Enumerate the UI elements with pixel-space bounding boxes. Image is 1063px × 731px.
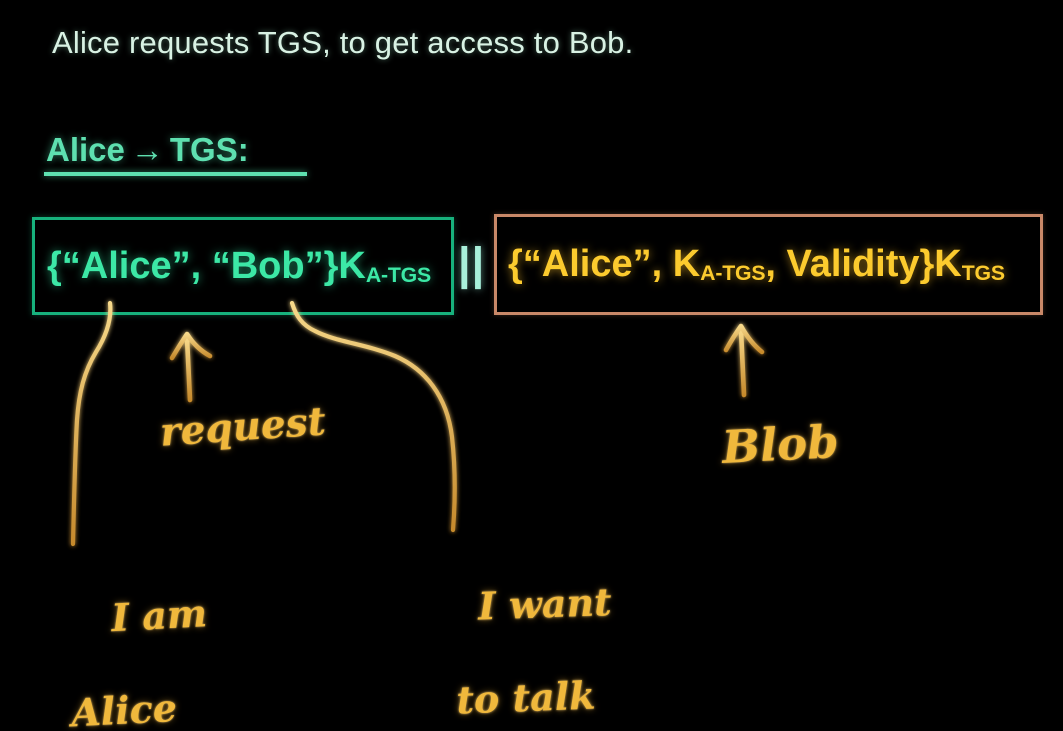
ticket-close-brace: } bbox=[920, 243, 935, 285]
authenticator-key-subscript: A-TGS bbox=[366, 263, 431, 287]
section-heading: Alice→TGS: bbox=[46, 131, 249, 169]
ticket-box: {“Alice”, KA-TGS, Validity}KTGS bbox=[494, 214, 1043, 315]
heading-to-label: TGS: bbox=[170, 131, 249, 168]
page-title: Alice requests TGS, to get access to Bob… bbox=[52, 25, 633, 61]
ticket-formula-head: {“Alice”, K bbox=[508, 243, 700, 285]
heading-underline bbox=[44, 172, 307, 176]
ticket-inner-key-subscript: A-TGS bbox=[700, 261, 765, 285]
authenticator-box: {“Alice”, “Bob”}KA-TGS bbox=[32, 217, 454, 315]
annotation-blob: Blob bbox=[721, 415, 840, 476]
request-arrow-head bbox=[172, 334, 210, 358]
ticket-formula: {“Alice”, KA-TGS, Validity}KTGS bbox=[508, 243, 1005, 286]
leader-line-alice bbox=[73, 303, 110, 544]
annotation-i-am-alice: I am Alice bbox=[55, 544, 218, 731]
annotation-i-want-to-talk-to-bob: I want to talk to Bob bbox=[423, 533, 634, 731]
annotation-i-want-line1: I want bbox=[477, 579, 612, 629]
annotation-i-am-alice-line1: I am bbox=[110, 591, 208, 641]
authenticator-formula-main: {“Alice”, “Bob”}K bbox=[47, 245, 366, 287]
heading-from-label: Alice bbox=[46, 131, 125, 168]
annotation-request: request bbox=[159, 398, 328, 457]
blob-arrow-shaft bbox=[741, 330, 744, 395]
authenticator-formula: {“Alice”, “Bob”}KA-TGS bbox=[47, 245, 431, 288]
blob-arrow-head bbox=[726, 326, 762, 352]
slide-canvas: Alice requests TGS, to get access to Bob… bbox=[0, 0, 1063, 731]
request-arrow-shaft bbox=[187, 338, 190, 400]
right-arrow-icon: → bbox=[125, 131, 170, 168]
concatenation-separator: || bbox=[458, 238, 485, 290]
annotation-i-want-line2: to talk bbox=[428, 672, 626, 725]
ticket-key-letter: K bbox=[934, 243, 961, 285]
annotation-i-am-alice-line2: Alice bbox=[62, 683, 213, 731]
ticket-key-subscript: TGS bbox=[962, 261, 1005, 285]
ticket-validity-part: , Validity bbox=[765, 243, 919, 285]
